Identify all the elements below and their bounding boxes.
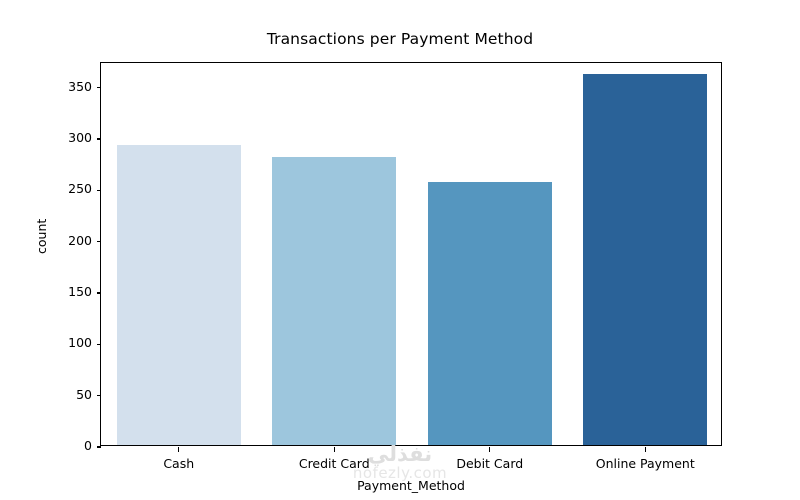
y-tick-mark	[97, 87, 102, 88]
bar	[428, 182, 552, 445]
y-tick-mark	[97, 138, 102, 139]
chart-figure: Transactions per Payment Method count 05…	[0, 0, 800, 500]
y-tick-label: 100	[68, 335, 92, 350]
y-tick-label: 50	[76, 387, 92, 402]
y-tick-mark	[97, 395, 102, 396]
y-tick-label: 150	[68, 284, 92, 299]
y-tick-mark	[97, 292, 102, 293]
x-tick-mark	[334, 447, 335, 452]
y-tick-mark	[97, 241, 102, 242]
y-tick-label: 250	[68, 181, 92, 196]
x-tick-mark	[178, 447, 179, 452]
y-tick-mark	[97, 344, 102, 345]
chart-title: Transactions per Payment Method	[0, 30, 800, 48]
y-tick-label: 350	[68, 79, 92, 94]
x-tick-mark	[489, 447, 490, 452]
y-tick-mark	[97, 190, 102, 191]
bar	[272, 157, 396, 446]
y-tick-label: 0	[84, 438, 92, 453]
x-axis-label: Payment_Method	[100, 478, 722, 493]
x-tick-label: Online Payment	[545, 456, 745, 471]
bar	[117, 145, 241, 445]
plot-area: 050100150200250300350 CashCredit CardDeb…	[100, 62, 722, 446]
y-axis-label: count	[34, 219, 49, 254]
y-tick-label: 300	[68, 130, 92, 145]
y-tick-label: 200	[68, 233, 92, 248]
bars-layer	[101, 63, 721, 445]
x-tick-mark	[645, 447, 646, 452]
bar	[583, 74, 707, 445]
y-tick-mark	[97, 446, 102, 447]
